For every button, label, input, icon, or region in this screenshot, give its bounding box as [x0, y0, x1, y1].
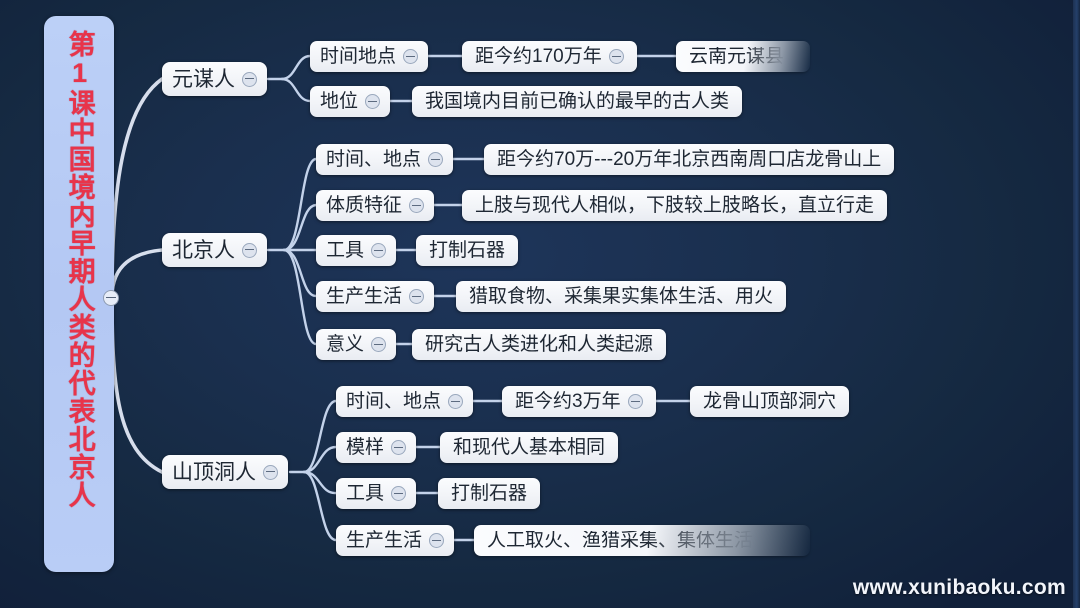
row-node-label: 生产生活 [346, 531, 422, 550]
leaf-node-label: 上肢与现代人相似，下肢较上肢略长，直立行走 [475, 196, 874, 215]
leaf-node-label: 研究古人类进化和人类起源 [425, 335, 653, 354]
leaf-node-label: 我国境内目前已确认的最早的古人类 [425, 92, 729, 111]
branch-node-label: 元谋人 [172, 69, 235, 90]
leaf-node-label: 距今约170万年 [475, 47, 602, 66]
row-node-label: 意义 [326, 335, 364, 354]
collapse-minus-icon[interactable] [409, 289, 424, 304]
collapse-minus-icon[interactable] [403, 49, 418, 64]
leaf-node-value[interactable]: 龙骨山顶部洞穴 [690, 386, 849, 417]
branch-node-yuanmouren[interactable]: 元谋人 [162, 62, 267, 96]
leaf-node-label: 猎取食物、采集果实集体生活、用火 [469, 287, 773, 306]
collapse-minus-icon[interactable] [371, 243, 386, 258]
leaf-node-value[interactable]: 和现代人基本相同 [440, 432, 618, 463]
row-node-status[interactable]: 地位 [310, 86, 390, 117]
right-edge-stripe [1073, 0, 1080, 608]
leaf-node-label: 距今约3万年 [515, 392, 621, 411]
collapse-minus-icon[interactable] [242, 72, 257, 87]
branch-node-beijingren[interactable]: 北京人 [162, 233, 267, 267]
collapse-minus-icon[interactable] [609, 49, 624, 64]
row-node-production-life[interactable]: 生产生活 [316, 281, 434, 312]
row-node-time-place[interactable]: 时间、地点 [336, 386, 473, 417]
row-node-appearance[interactable]: 模样 [336, 432, 416, 463]
collapse-minus-icon[interactable] [391, 486, 406, 501]
row-node-tools[interactable]: 工具 [316, 235, 396, 266]
row-node-tools[interactable]: 工具 [336, 478, 416, 509]
leaf-node-label: 打制石器 [451, 484, 527, 503]
leaf-node-label: 和现代人基本相同 [453, 438, 605, 457]
row-node-label: 地位 [320, 92, 358, 111]
branch-node-shandingdongren[interactable]: 山顶洞人 [162, 455, 288, 489]
row-node-label: 工具 [346, 484, 384, 503]
row-node-label: 时间、地点 [326, 150, 421, 169]
root-node-label: 第1课中国境内早期人类的代表北京人 [63, 30, 94, 509]
leaf-node-value[interactable]: 上肢与现代人相似，下肢较上肢略长，直立行走 [462, 190, 887, 221]
leaf-node-label: 龙骨山顶部洞穴 [703, 392, 836, 411]
row-node-label: 时间、地点 [346, 392, 441, 411]
mindmap-canvas: 第1课中国境内早期人类的代表北京人 元谋人 时间地点 距今约170万年 云南元谋… [0, 0, 1080, 608]
collapse-minus-icon[interactable] [365, 94, 380, 109]
row-node-significance[interactable]: 意义 [316, 329, 396, 360]
leaf-node-value[interactable]: 距今约170万年 [462, 41, 637, 72]
row-node-label: 体质特征 [326, 196, 402, 215]
leaf-node-value-cutoff[interactable]: 人工取火、渔猎采集、集体生活 [474, 525, 810, 556]
leaf-node-value-cutoff[interactable]: 云南元谋县 [676, 41, 810, 72]
leaf-node-value[interactable]: 打制石器 [416, 235, 518, 266]
collapse-minus-icon[interactable] [428, 152, 443, 167]
leaf-node-label: 距今约70万---20万年北京西南周口店龙骨山上 [497, 150, 881, 169]
leaf-node-value[interactable]: 我国境内目前已确认的最早的古人类 [412, 86, 742, 117]
leaf-node-value[interactable]: 猎取食物、采集果实集体生活、用火 [456, 281, 786, 312]
branch-node-label: 北京人 [172, 240, 235, 261]
row-node-label: 生产生活 [326, 287, 402, 306]
leaf-node-value[interactable]: 研究古人类进化和人类起源 [412, 329, 666, 360]
row-node-time-place[interactable]: 时间、地点 [316, 144, 453, 175]
collapse-minus-icon[interactable] [391, 440, 406, 455]
leaf-node-label: 人工取火、渔猎采集、集体生活 [487, 531, 753, 550]
row-node-label: 时间地点 [320, 47, 396, 66]
collapse-minus-icon[interactable] [263, 465, 278, 480]
row-node-time-place[interactable]: 时间地点 [310, 41, 428, 72]
row-node-label: 模样 [346, 438, 384, 457]
collapse-minus-icon-root[interactable] [103, 290, 119, 306]
leaf-node-value[interactable]: 打制石器 [438, 478, 540, 509]
collapse-minus-icon[interactable] [429, 533, 444, 548]
row-node-label: 工具 [326, 241, 364, 260]
leaf-node-label: 打制石器 [429, 241, 505, 260]
collapse-minus-icon[interactable] [409, 198, 424, 213]
branch-node-label: 山顶洞人 [172, 462, 256, 483]
collapse-minus-icon[interactable] [448, 394, 463, 409]
leaf-node-value[interactable]: 距今约3万年 [502, 386, 656, 417]
row-node-production-life[interactable]: 生产生活 [336, 525, 454, 556]
watermark: www.xunibaoku.com [853, 576, 1066, 600]
leaf-node-label: 云南元谋县 [689, 47, 784, 66]
collapse-minus-icon[interactable] [628, 394, 643, 409]
collapse-minus-icon[interactable] [242, 243, 257, 258]
leaf-node-value[interactable]: 距今约70万---20万年北京西南周口店龙骨山上 [484, 144, 894, 175]
row-node-physical-traits[interactable]: 体质特征 [316, 190, 434, 221]
collapse-minus-icon[interactable] [371, 337, 386, 352]
